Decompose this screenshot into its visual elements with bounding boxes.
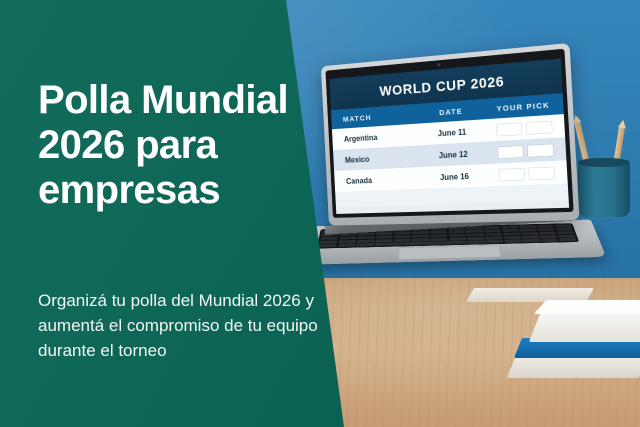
pick-input[interactable] [498, 145, 523, 158]
column-header-match: MATCH [331, 109, 419, 124]
laptop: WORLD CUP 2026 MATCH DATE YOUR PICK Arge… [300, 55, 600, 315]
cell-match: Argentina [332, 130, 420, 144]
pick-cell [486, 143, 566, 158]
webcam-icon [437, 63, 440, 66]
pick-input[interactable] [497, 123, 522, 136]
cell-date: June 12 [421, 148, 487, 160]
cell-date: June 16 [422, 171, 488, 183]
laptop-screen: WORLD CUP 2026 MATCH DATE YOUR PICK Arge… [329, 59, 569, 214]
laptop-trackpad [398, 245, 502, 260]
pick-cell [485, 120, 565, 136]
cell-date: June 11 [420, 126, 486, 139]
laptop-lid: WORLD CUP 2026 MATCH DATE YOUR PICK Arge… [321, 43, 580, 226]
pick-input[interactable] [499, 168, 524, 180]
cell-match: Canada [334, 173, 422, 185]
column-header-date: DATE [418, 105, 484, 119]
page-subtitle: Organizá tu polla del Mundial 2026 y aum… [38, 288, 344, 363]
page-title: Polla Mundial 2026 para empresas [38, 78, 338, 214]
cell-match: Mexico [333, 152, 421, 165]
pick-input[interactable] [528, 144, 554, 157]
pick-input[interactable] [526, 121, 552, 134]
screen-title: WORLD CUP 2026 [379, 72, 505, 98]
laptop-bezel: WORLD CUP 2026 MATCH DATE YOUR PICK Arge… [325, 49, 573, 218]
banner-image: WORLD CUP 2026 MATCH DATE YOUR PICK Arge… [0, 0, 640, 427]
pick-cell [487, 166, 567, 181]
pick-input[interactable] [529, 167, 555, 180]
column-header-your-pick: YOUR PICK [484, 99, 564, 114]
